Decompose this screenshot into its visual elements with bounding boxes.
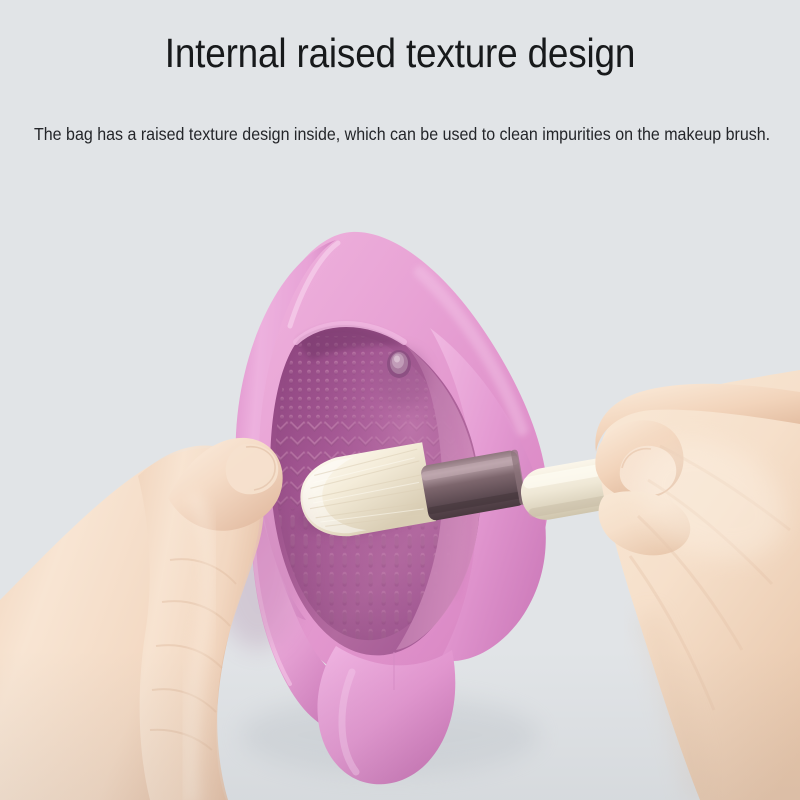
page-title: Internal raised texture design: [40, 30, 760, 77]
snap-fastener: [377, 348, 429, 408]
page-subtitle: The bag has a raised texture design insi…: [34, 124, 766, 145]
product-photo: [0, 0, 800, 800]
product-feature-image: Internal raised texture design The bag h…: [0, 0, 800, 800]
product-illustration: [0, 0, 800, 800]
